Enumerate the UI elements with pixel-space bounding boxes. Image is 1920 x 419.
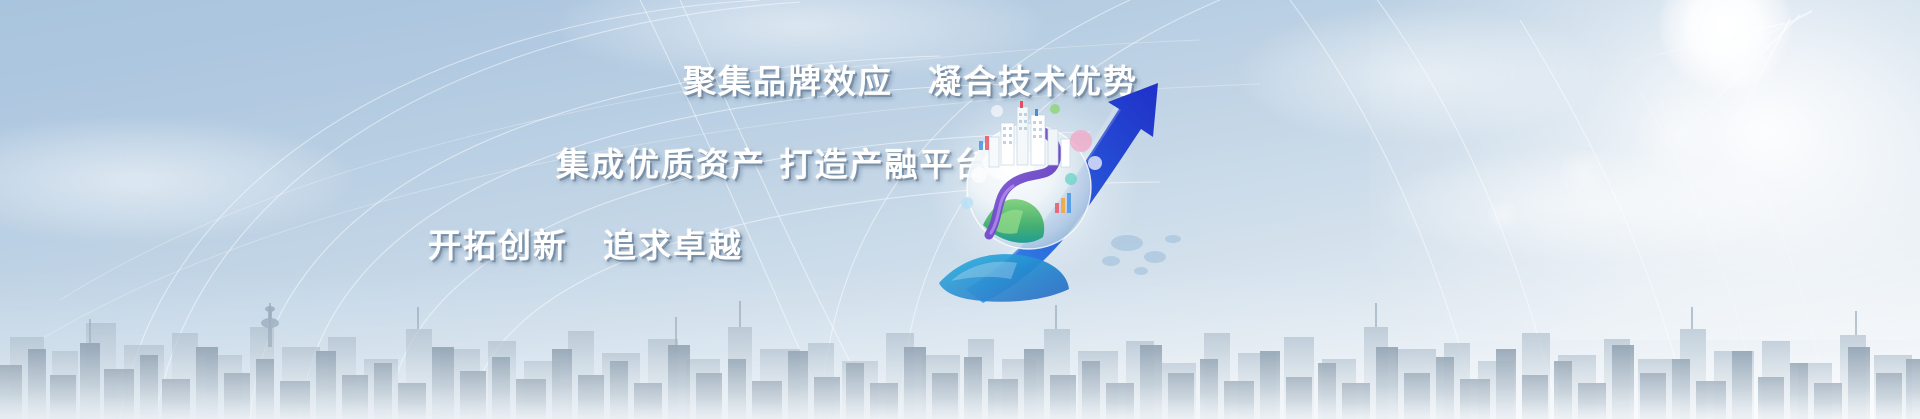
sun-glow-icon <box>1370 0 1920 340</box>
hero-banner: 聚集品牌效应 凝合技术优势 集成优质资产 打造产融平台 开拓创新 追求卓越 <box>0 0 1920 419</box>
lens-flare-icon <box>1640 96 1718 174</box>
sun-core-icon <box>1660 0 1790 90</box>
skyline-haze <box>0 269 1920 419</box>
lens-flare-icon <box>1488 200 1518 230</box>
lens-flare-icon <box>1560 150 1606 196</box>
cloud-icon <box>0 120 350 240</box>
headline-line-3: 开拓创新 追求卓越 <box>428 219 743 267</box>
city-skyline-silhouette <box>0 289 1920 419</box>
globe-arrow-graphic <box>905 75 1215 310</box>
headline-line-1: 聚集品牌效应 凝合技术优势 <box>683 55 1138 103</box>
headline-line-2: 集成优质资产 打造产融平台 <box>556 138 990 186</box>
cloud-icon <box>1380 150 1800 260</box>
cloud-icon <box>1240 10 1600 140</box>
